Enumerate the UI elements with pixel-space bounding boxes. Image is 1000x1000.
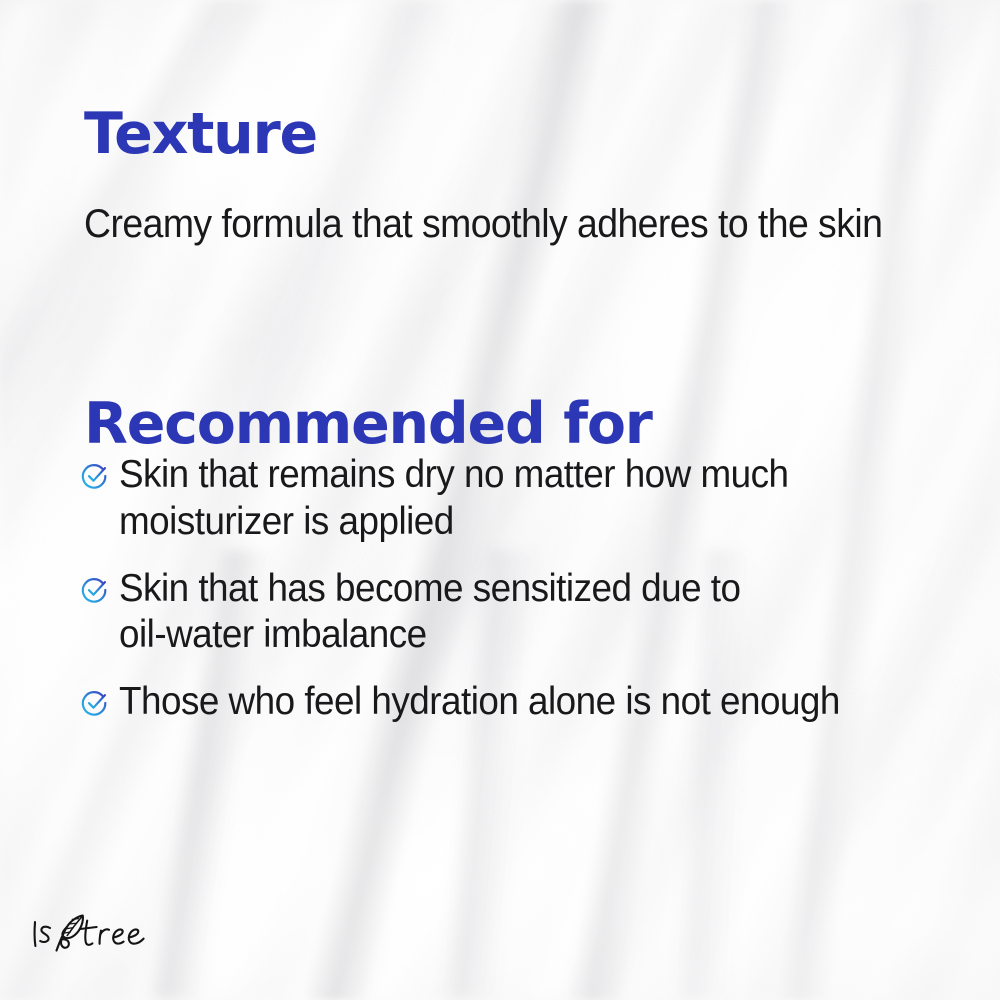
list-item-label: Skin that remains dry no matter how much…: [119, 452, 914, 546]
product-info-card: Texture Creamy formula that smoothly adh…: [0, 0, 1000, 1000]
check-circle-icon: [80, 688, 110, 718]
recommended-list: Skin that remains dry no matter how much…: [80, 452, 960, 746]
texture-section-heading: Texture: [84, 106, 317, 163]
check-circle-icon: [80, 575, 110, 605]
list-item-label: Those who feel hydration alone is not en…: [119, 679, 914, 726]
list-item: Skin that has become sensitized due to o…: [80, 566, 960, 660]
list-item: Those who feel hydration alone is not en…: [80, 679, 960, 726]
isntree-leaf-logo: [26, 906, 176, 966]
check-circle-icon: [80, 461, 110, 491]
recommended-section-heading: Recommended for: [84, 396, 652, 453]
texture-subtitle: Creamy formula that smoothly adheres to …: [84, 200, 882, 250]
list-item-label: Skin that has become sensitized due to o…: [119, 566, 914, 660]
list-item: Skin that remains dry no matter how much…: [80, 452, 960, 546]
